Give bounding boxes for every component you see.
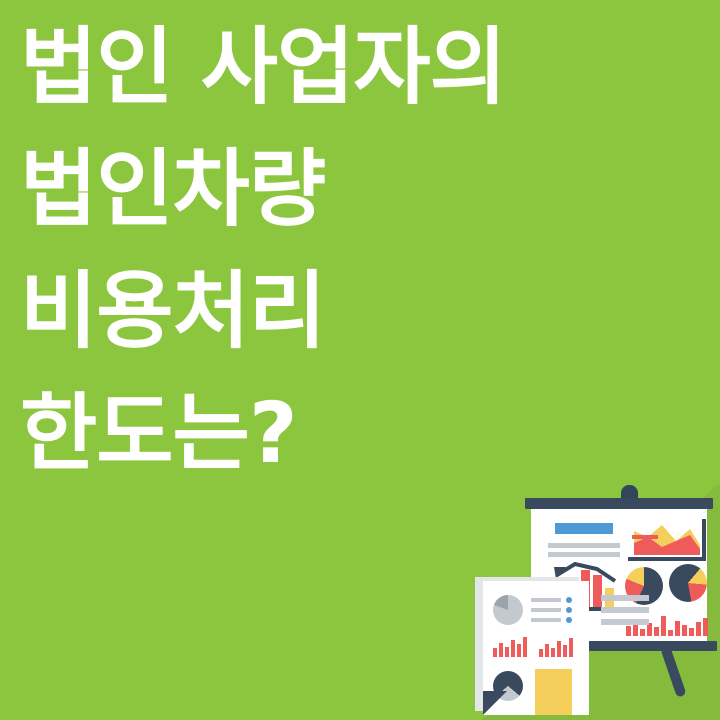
bar: [654, 627, 659, 636]
bar: [545, 644, 549, 657]
bar: [626, 626, 631, 636]
doc-highlight-block: [535, 669, 572, 715]
doc-bullet-dot: [566, 607, 572, 613]
board-side-text-line: [601, 607, 649, 613]
bar: [539, 649, 543, 657]
bar: [668, 630, 673, 636]
board-top-rail: [525, 498, 713, 509]
doc-text-line: [531, 618, 561, 622]
bar: [640, 629, 645, 636]
bar: [511, 640, 515, 657]
area-chart: [628, 519, 706, 561]
bar: [505, 647, 509, 657]
page-title: 법인 사업자의 법인차량 비용처리 한도는?: [20, 6, 680, 494]
board-text-line: [548, 543, 620, 548]
bar: [563, 645, 567, 657]
area-chart-y-axis: [702, 519, 706, 559]
board-side-text-line: [601, 619, 649, 625]
headline-line-4: 한도는?: [20, 372, 680, 494]
presentation-illustration: [455, 485, 720, 720]
easel-leg-right: [660, 645, 686, 697]
headline-line-3: 비용처리: [20, 250, 680, 372]
poster-canvas: 법인 사업자의 법인차량 비용처리 한도는?: [0, 0, 720, 720]
doc-text-line: [531, 598, 561, 602]
pie-chart-right: [669, 564, 707, 602]
headline-line-2: 법인차량: [20, 128, 680, 250]
bar: [682, 625, 687, 636]
bar: [551, 648, 555, 657]
doc-text-line: [531, 608, 561, 612]
area-chart-pointer: [632, 535, 658, 539]
area-chart-x-axis: [628, 557, 706, 561]
bar: [689, 628, 694, 636]
board-side-text-line: [601, 595, 649, 601]
bar: [696, 622, 701, 636]
bar: [569, 638, 573, 657]
doc-bar-chart-left: [493, 635, 535, 657]
area-chart-svg: [628, 519, 706, 561]
board-text-line: [548, 552, 620, 557]
bar: [499, 643, 503, 657]
bar: [703, 618, 708, 636]
doc-pie-chart-top: [493, 595, 523, 625]
bar: [675, 621, 680, 636]
bar: [557, 641, 561, 657]
headline-line-1: 법인 사업자의: [20, 6, 680, 128]
bar: [493, 648, 497, 657]
bar: [661, 616, 666, 636]
bar: [517, 644, 521, 657]
document-folded-corner: [483, 691, 507, 715]
doc-bullet-dot: [566, 617, 572, 623]
doc-bullet-dot: [566, 597, 572, 603]
bar: [523, 637, 527, 657]
doc-bar-chart-right: [539, 635, 581, 657]
board-title-bar: [555, 523, 613, 534]
